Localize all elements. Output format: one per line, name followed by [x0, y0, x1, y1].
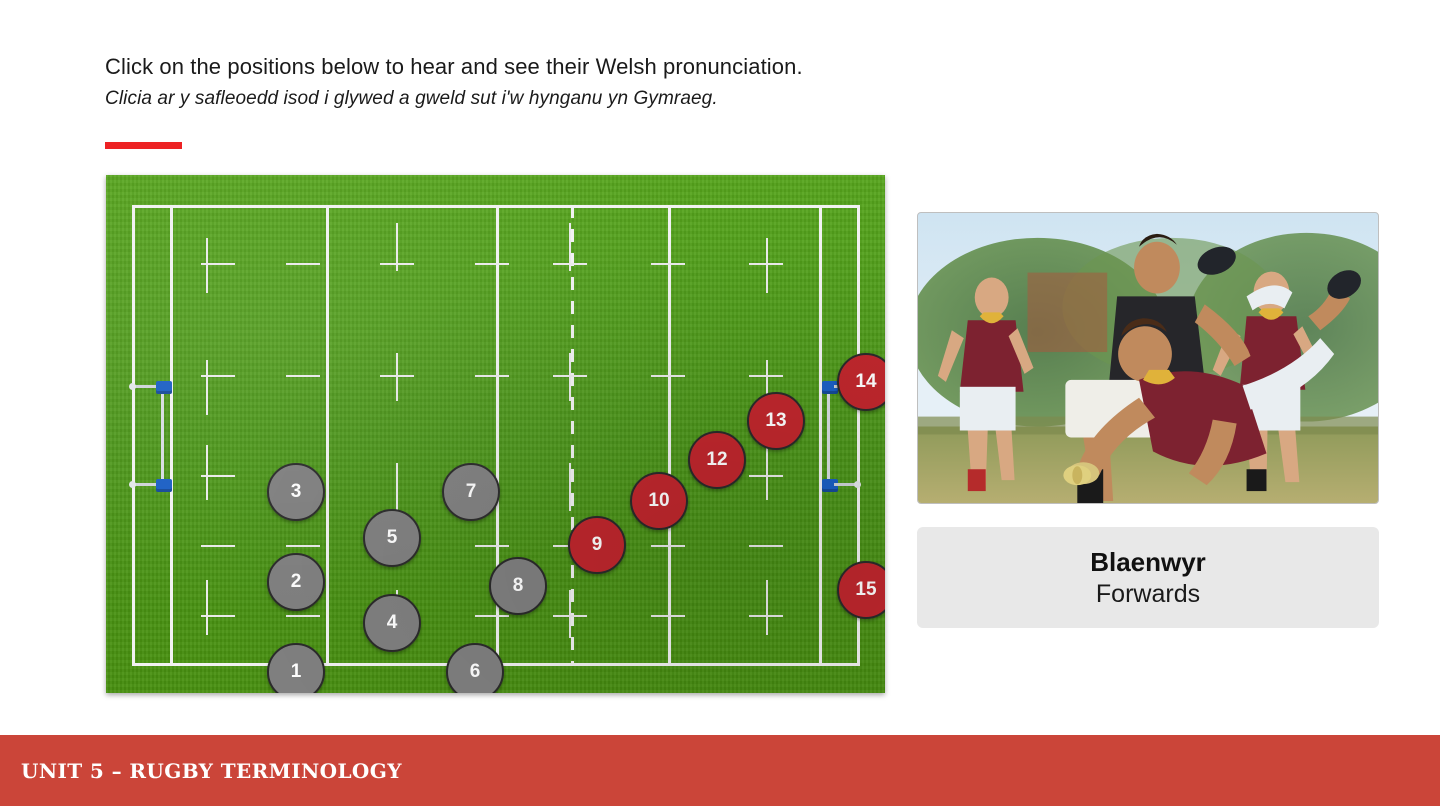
hash-mark-23 [749, 545, 783, 547]
hash-col-b4 [766, 580, 768, 635]
welsh-term: Blaenwyr [1090, 546, 1206, 578]
english-term: Forwards [1096, 578, 1200, 610]
hash-mark-3 [380, 263, 414, 265]
unit-title: UNIT 5 – RUGBY TERMINOLOGY [21, 759, 402, 783]
position-marker-label: 13 [765, 410, 786, 432]
hash-mark-28 [553, 615, 587, 617]
position-marker-8[interactable]: 8 [489, 557, 547, 615]
hash-mark-2 [286, 263, 320, 265]
position-marker-label: 4 [387, 612, 398, 634]
position-marker-label: 9 [592, 534, 603, 556]
instruction-welsh: Clicia ar y safleoedd isod i glywed a gw… [105, 85, 1005, 113]
position-marker-14[interactable]: 14 [837, 353, 885, 411]
goal-arm-left-top [132, 385, 156, 388]
hash-mark-8 [201, 375, 235, 377]
position-marker-label: 14 [855, 371, 876, 393]
hash-mark-30 [749, 615, 783, 617]
hash-col-d2 [569, 353, 571, 401]
hash-mark-14 [749, 375, 783, 377]
hash-col-d4 [569, 590, 571, 638]
hash-mark-12 [553, 375, 587, 377]
hash-mark-16 [749, 475, 783, 477]
position-marker-2[interactable]: 2 [267, 553, 325, 611]
hash-col-c3 [396, 463, 398, 511]
position-marker-label: 5 [387, 527, 398, 549]
hash-col-a3 [206, 445, 208, 500]
rugby-photo [917, 212, 1379, 504]
twentytwo-line-right [668, 205, 671, 666]
hash-mark-15 [201, 475, 235, 477]
hash-mark-27 [475, 615, 509, 617]
position-marker-7[interactable]: 7 [442, 463, 500, 521]
instruction-block: Click on the positions below to hear and… [105, 52, 1005, 113]
hash-mark-11 [475, 375, 509, 377]
hash-mark-17 [201, 545, 235, 547]
goal-arm-right-bottom [834, 483, 858, 486]
position-marker-label: 12 [706, 449, 727, 471]
hash-mark-25 [286, 615, 320, 617]
hash-mark-24 [201, 615, 235, 617]
pitch-surface: 123456789101112131415 [106, 175, 885, 693]
hash-mark-18 [286, 545, 320, 547]
goal-posts-left [150, 381, 174, 491]
hash-mark-4 [475, 263, 509, 265]
hash-col-b3 [766, 445, 768, 500]
position-marker-9[interactable]: 9 [568, 516, 626, 574]
instruction-english: Click on the positions below to hear and… [105, 52, 1005, 82]
hash-mark-5 [553, 263, 587, 265]
position-marker-label: 3 [291, 481, 302, 503]
hash-col-b1 [766, 238, 768, 293]
goal-upright-left [161, 387, 164, 487]
hash-mark-29 [651, 615, 685, 617]
hash-mark-9 [286, 375, 320, 377]
goal-pad-left-bottom [156, 479, 172, 492]
halfway-line [571, 205, 574, 666]
hash-mark-7 [749, 263, 783, 265]
accent-bar [105, 142, 182, 149]
hash-mark-1 [201, 263, 235, 265]
position-marker-10[interactable]: 10 [630, 472, 688, 530]
position-marker-6[interactable]: 6 [446, 643, 504, 693]
position-marker-label: 2 [291, 571, 302, 593]
hash-col-c2 [396, 353, 398, 401]
hash-mark-20 [475, 545, 509, 547]
goal-pad-left-top [156, 381, 172, 394]
rugby-photo-illustration [918, 213, 1378, 503]
hash-col-a1 [206, 238, 208, 293]
position-marker-12[interactable]: 12 [688, 431, 746, 489]
footer-bar: UNIT 5 – RUGBY TERMINOLOGY REFRESH ← 1 o… [0, 735, 1440, 806]
hash-mark-22 [651, 545, 685, 547]
hash-col-d3 [569, 463, 571, 511]
position-marker-label: 10 [648, 490, 669, 512]
hash-mark-6 [651, 263, 685, 265]
hash-mark-10 [380, 375, 414, 377]
position-marker-3[interactable]: 3 [267, 463, 325, 521]
position-marker-label: 1 [291, 661, 302, 683]
position-marker-label: 7 [466, 481, 477, 503]
position-marker-1[interactable]: 1 [267, 643, 325, 693]
hash-mark-13 [651, 375, 685, 377]
position-marker-15[interactable]: 15 [837, 561, 885, 619]
position-marker-label: 6 [470, 661, 481, 683]
hash-col-a2 [206, 360, 208, 415]
position-marker-5[interactable]: 5 [363, 509, 421, 567]
position-marker-label: 15 [855, 579, 876, 601]
goal-arm-left-bottom [132, 483, 156, 486]
goal-upright-right [827, 387, 830, 487]
twentytwo-line-left [326, 205, 329, 666]
rugby-pitch: 123456789101112131415 [106, 175, 885, 693]
goal-posts-right [816, 381, 840, 491]
position-marker-label: 8 [513, 575, 524, 597]
position-marker-13[interactable]: 13 [747, 392, 805, 450]
pitch-line-left-dead [132, 205, 135, 666]
term-info-card: Blaenwyr Forwards [917, 527, 1379, 628]
position-marker-4[interactable]: 4 [363, 594, 421, 652]
hash-col-a4 [206, 580, 208, 635]
app-stage: Click on the positions below to hear and… [0, 0, 1440, 806]
